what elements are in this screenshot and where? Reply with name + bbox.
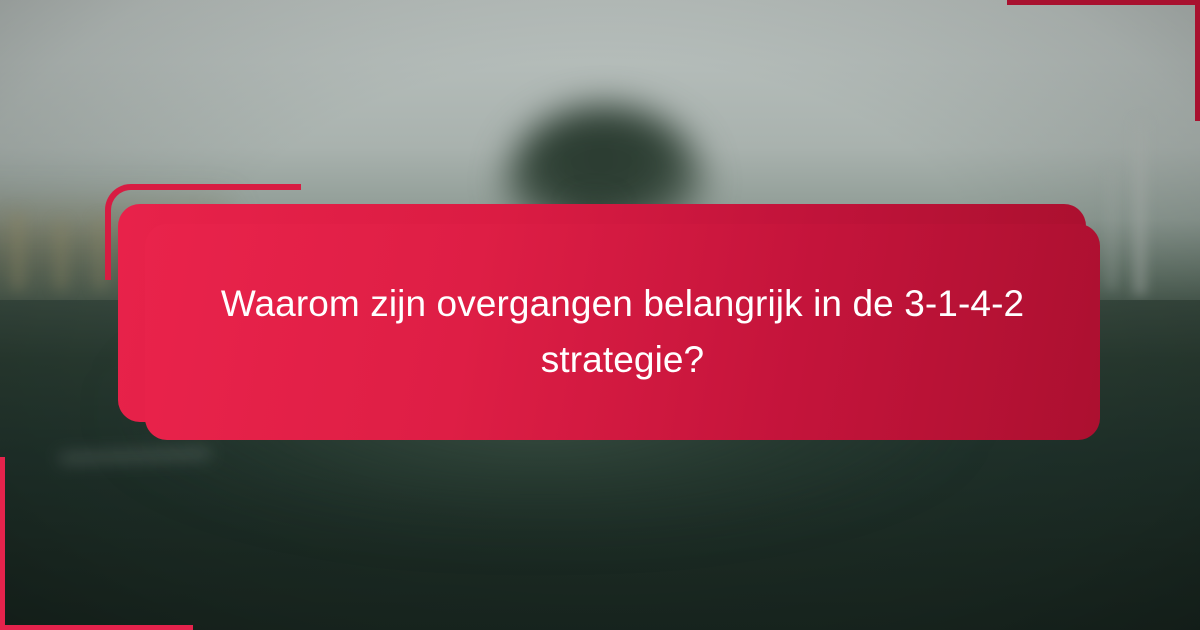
social-card-canvas: Waarom zijn overgangen belangrijk in de … bbox=[0, 0, 1200, 630]
headline-card: Waarom zijn overgangen belangrijk in de … bbox=[145, 224, 1100, 440]
page-title: Waarom zijn overgangen belangrijk in de … bbox=[191, 276, 1054, 388]
